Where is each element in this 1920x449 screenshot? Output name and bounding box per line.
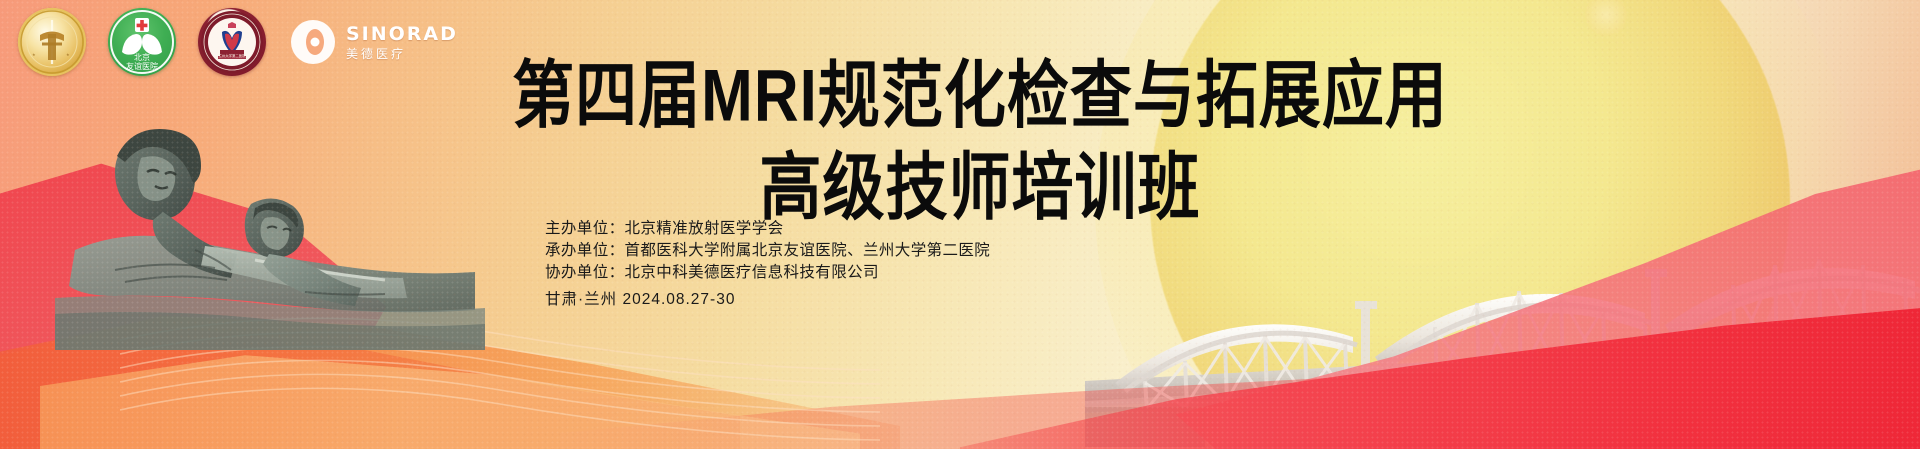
event-banner: ★★ 北京 友谊医院 <box>0 0 1920 449</box>
svg-text:★: ★ <box>66 52 70 57</box>
banner-title-block: 第四届MRI规范化检查与拓展应用 高级技师培训班 <box>0 58 1920 215</box>
wave-shape-orange-deep <box>0 300 740 449</box>
co-organizer-line: 协办单位：北京中科美德医疗信息科技有限公司 <box>545 262 990 284</box>
page-title-line-2: 高级技师培训班 <box>40 150 1920 228</box>
wave-shape-light <box>40 330 860 449</box>
sinorad-wordmark-en: SINORAD <box>346 25 458 44</box>
wave-shape-center <box>560 355 1460 449</box>
page-title-line-1: 第四届MRI规范化检查与拓展应用 <box>40 58 1920 136</box>
svg-text:★: ★ <box>32 52 36 57</box>
wave-shape-red-bottom <box>960 300 1920 449</box>
undertaker-organization-line: 承办单位：首都医科大学附属北京友谊医院、兰州大学第二医院 <box>545 240 990 262</box>
organizer-info-block: 主办单位：北京精准放射医学学会 承办单位：首都医科大学附属北京友谊医院、兰州大学… <box>545 218 990 311</box>
sun-spark-icon <box>1585 0 1627 36</box>
wave-line-strokes <box>120 300 880 449</box>
venue-and-date-line: 甘肃·兰州 2024.08.27-30 <box>545 289 990 311</box>
host-organization-line: 主办单位：北京精准放射医学学会 <box>545 218 990 240</box>
